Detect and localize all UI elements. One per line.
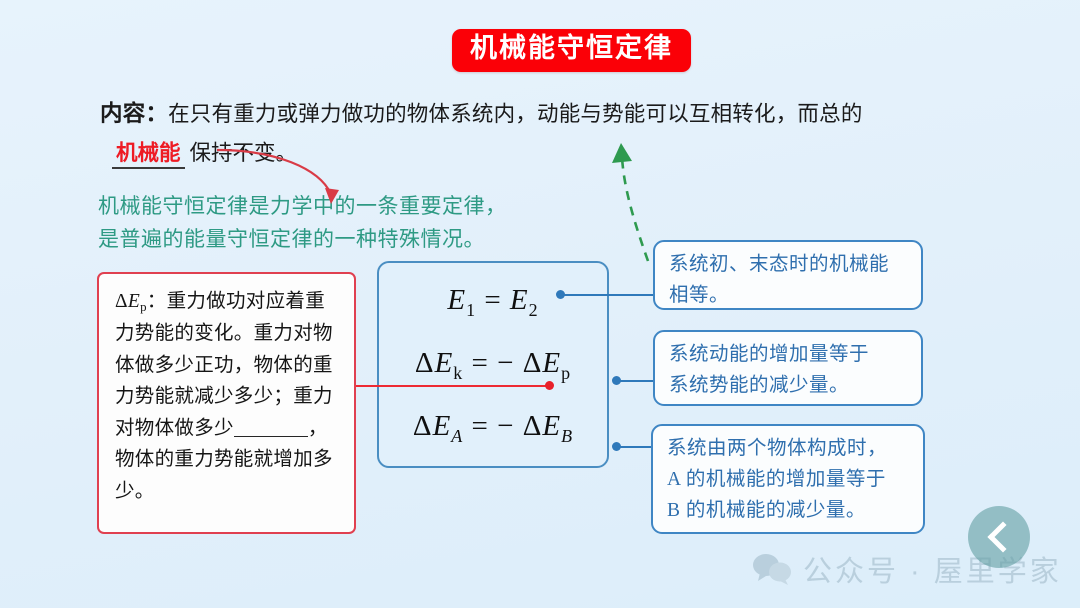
content-text-1: 在只有重力或弹力做功的物体系统内，动能与势能可以互相转化，而总的 <box>168 102 862 126</box>
delta-ep-symbol: ΔEp <box>115 291 147 312</box>
teal-note-line-2: 是普遍的能量守恒定律的一种特殊情况。 <box>98 223 507 256</box>
formula-box: E1 = E2 ΔEk = − ΔEp ΔEA = − ΔEB <box>377 261 609 468</box>
delta-ep-explanation-box: ΔEp：重力做功对应着重力势能的变化。重力对物体做多少正功，物体的重力势能就减少… <box>97 272 356 534</box>
annotation-3-line-3: B 的机械能的减少量。 <box>667 496 911 527</box>
content-label: 内容： <box>100 101 168 126</box>
annotation-box-1: 系统初、末态时的机械能 相等。 <box>653 240 923 310</box>
red-connector-dot <box>545 381 554 390</box>
connector-line-1 <box>560 294 653 296</box>
annotation-3-line-2: A 的机械能的增加量等于 <box>667 465 911 496</box>
annotation-3-line-1: 系统由两个物体构成时， <box>667 434 911 465</box>
formula-1: E1 = E2 <box>447 284 538 321</box>
formula-3: ΔEA = − ΔEB <box>413 410 573 447</box>
annotation-1-line-2: 相等。 <box>669 281 909 312</box>
delta-ep-text-before: ：重力做功对应着重力势能的变化。重力对物体做多少正功，物体的重力势能就减少多少；… <box>115 291 333 439</box>
slide-canvas: 机械能守恒定律 内容：在只有重力或弹力做功的物体系统内，动能与势能可以互相转化，… <box>0 0 1080 608</box>
formula-2: ΔEk = − ΔEp <box>415 347 571 384</box>
annotation-2-line-2: 系统势能的减少量。 <box>669 371 909 402</box>
green-dashed-arrow <box>590 135 660 263</box>
fill-in-blank <box>234 436 308 437</box>
annotation-box-3: 系统由两个物体构成时， A 的机械能的增加量等于 B 的机械能的减少量。 <box>651 424 925 534</box>
annotation-1-line-1: 系统初、末态时的机械能 <box>669 250 909 281</box>
chevron-left-icon <box>987 521 1018 552</box>
content-line-1: 内容：在只有重力或弹力做功的物体系统内，动能与势能可以互相转化，而总的 <box>100 99 930 129</box>
content-keyword: 机械能 <box>112 141 185 169</box>
connector-line-2 <box>616 380 654 382</box>
annotation-2-line-1: 系统动能的增加量等于 <box>669 340 909 371</box>
red-connector-line <box>356 385 547 387</box>
back-button[interactable] <box>968 506 1030 568</box>
connector-line-3 <box>616 446 652 448</box>
page-title: 机械能守恒定律 <box>452 29 691 72</box>
red-curved-arrow <box>215 142 375 212</box>
wechat-icon <box>752 553 792 585</box>
annotation-box-2: 系统动能的增加量等于 系统势能的减少量。 <box>653 330 923 406</box>
